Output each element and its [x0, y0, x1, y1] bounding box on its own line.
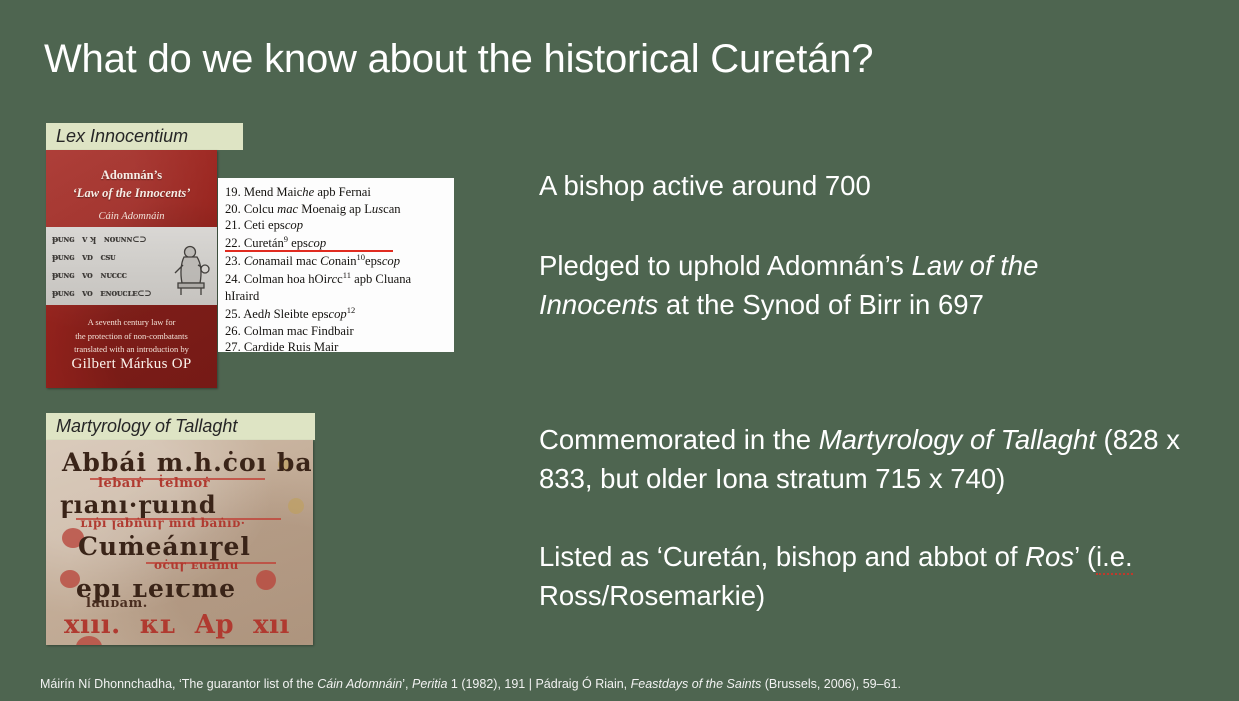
- guarantor-list-item: 26. Colman mac Findbair: [225, 323, 447, 340]
- book-cover-author: Gilbert Márkus OP: [46, 356, 217, 373]
- book-blurb-line2: the protection of non-combatants: [46, 330, 217, 344]
- guarantor-list-item: 24. Colman hoa hOircc11 apb Cluana hIrai…: [225, 270, 447, 305]
- rubric-line: lauᴅam.: [86, 596, 148, 611]
- body-paragraph-3: Commemorated in the Martyrology of Talla…: [539, 420, 1209, 498]
- rubric-line: xııı. ᴋʟ Ap xıı: [64, 610, 290, 640]
- caption-martyrology-of-tallaght: Martyrology of Tallaght: [46, 413, 315, 440]
- rubric-line: lebaıṙ ṫelmoṙ: [98, 476, 210, 491]
- guarantor-list-item: 19. Mend Maiche apb Fernai: [225, 184, 447, 201]
- guarantor-list-item: 22. Curetán9 epscop: [225, 234, 447, 252]
- manuscript-line: ꝼıanı·ꝼuınd: [60, 490, 217, 519]
- page-title: What do we know about the historical Cur…: [44, 36, 1144, 82]
- manuscript-line: Cuṁeánıɼel: [78, 532, 251, 561]
- spellcheck-error-text: i.e.: [1096, 541, 1133, 575]
- book-blurb-line3: translated with an introduction by: [46, 343, 217, 357]
- guarantor-list-item: 27. Cardide Ruis Mair: [225, 339, 447, 352]
- book-cover-blurb: A seventh century law for the protection…: [46, 316, 217, 357]
- book-blurb-line1: A seventh century law for: [46, 316, 217, 330]
- book-cover-title: Adomnán’s ‘Law of the Innocents’: [46, 166, 217, 202]
- rubric-line: oċuꞅ ᴇuamu: [154, 558, 239, 572]
- book-cover-subtitle: Cáin Adomnáin: [46, 211, 217, 222]
- rubric-line: ʟıṗı ꞁabṅuıꞅ mıd baṅıᴅ·: [80, 516, 245, 530]
- decorated-initial: [256, 570, 276, 590]
- scribe-illustration-icon: [171, 243, 211, 299]
- presentation-slide: What do we know about the historical Cur…: [0, 0, 1239, 701]
- guarantor-list-item: 20. Colcu mac Moenaig ap Luscan: [225, 201, 447, 218]
- cover-manuscript-band: ᵽᴜɴɢ ᴠ ʞ ɴᴏᴜɴɴ⊂⊃ ᵽᴜɴɢ ᴠᴅ ᴄꜱᴜ ᵽᴜɴɢ ᴠᴏ ɴᴜᴄ…: [46, 227, 217, 305]
- guarantor-list-item: 23. Conamail mac Conain10epscop: [225, 252, 447, 270]
- body-paragraph-1: A bishop active around 700: [539, 166, 1189, 205]
- gold-ornament: [288, 498, 304, 514]
- body-paragraph-4: Listed as ‘Curetán, bishop and abbot of …: [539, 537, 1209, 615]
- guarantor-list: 19. Mend Maiche apb Fernai20. Colcu mac …: [225, 184, 447, 352]
- guarantor-list-panel: 19. Mend Maiche apb Fernai20. Colcu mac …: [218, 178, 454, 352]
- source-citation: Máirín Ní Dhonnchadha, ‘The guarantor li…: [40, 676, 1200, 692]
- book-title-line2: ‘Law of the Innocents’: [46, 184, 217, 202]
- book-cover-image: Adomnán’s ‘Law of the Innocents’ Cáin Ad…: [46, 150, 217, 388]
- guarantor-list-item: 25. Aedh Sleibte epscop12: [225, 305, 447, 323]
- caption-lex-innocentium: Lex Innocentium: [46, 123, 243, 150]
- martyrology-manuscript-image: Abbái m.h.ċoı baṫ lebaıṙ ṫelmoṙ ꝼıanı·ꝼu…: [46, 440, 313, 645]
- body-paragraph-2: Pledged to uphold Adomnán’s Law of the I…: [539, 246, 1139, 324]
- book-title-line1: Adomnán’s: [46, 166, 217, 184]
- guarantor-list-item: 21. Ceti epscop: [225, 217, 447, 234]
- manuscript-line: Abbái m.h.ċoı baṫ: [62, 448, 313, 477]
